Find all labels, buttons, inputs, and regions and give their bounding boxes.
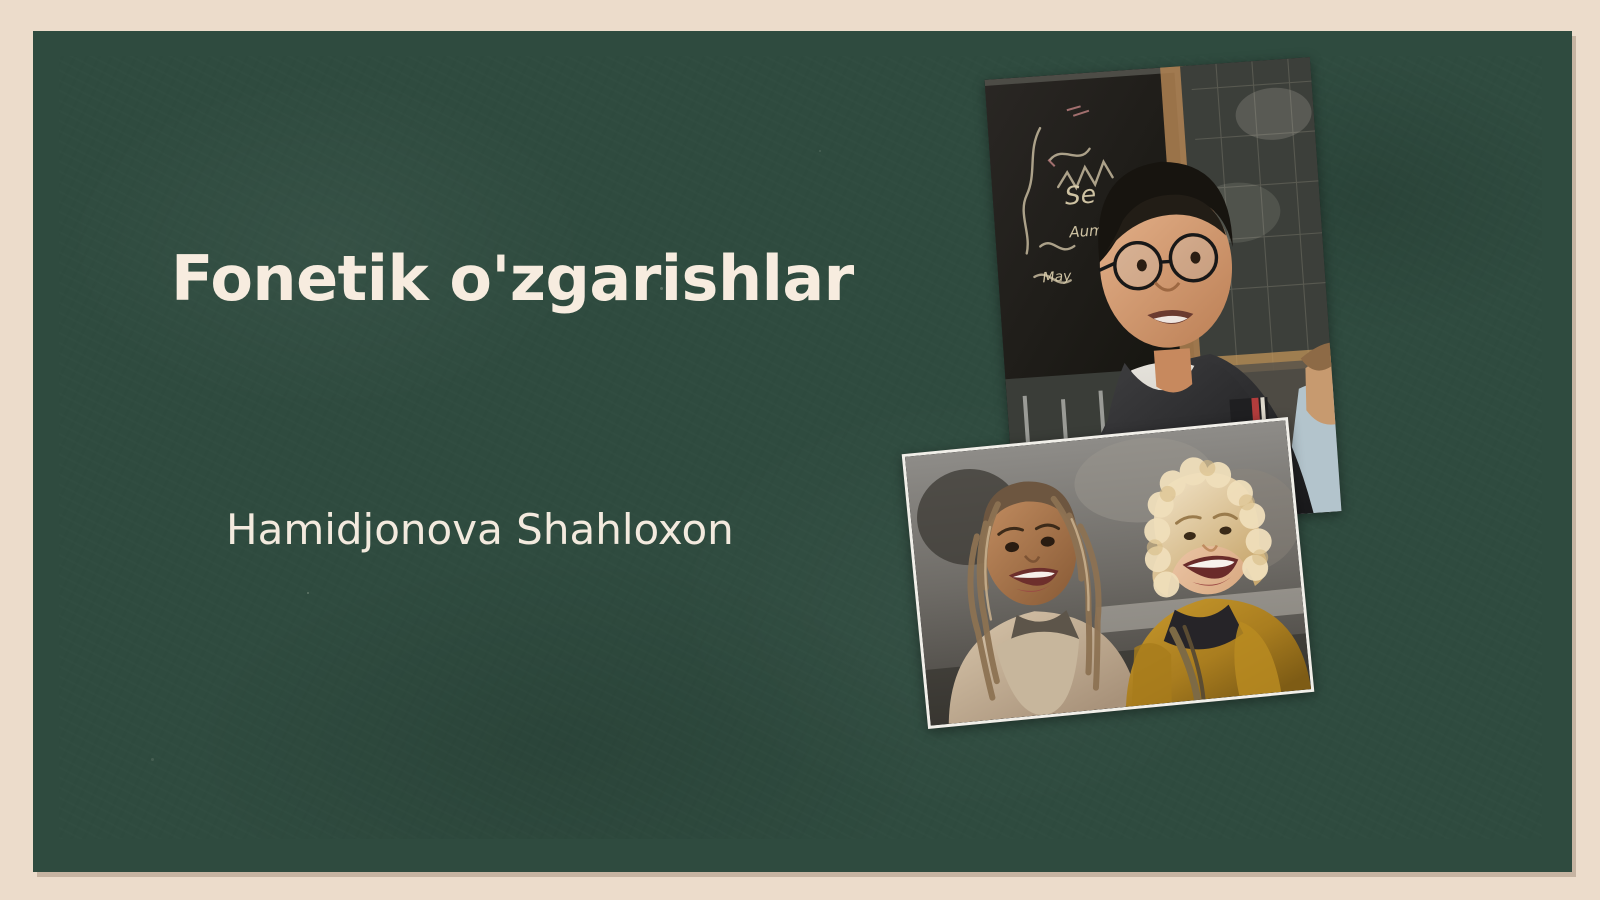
title-block: Fonetik o'zgarishlar xyxy=(171,245,931,313)
chalk-speck xyxy=(819,150,821,152)
students-photo-illustration xyxy=(905,420,1311,725)
students-photo xyxy=(902,417,1315,729)
svg-text:May: May xyxy=(1042,268,1073,286)
chalk-speck xyxy=(307,592,309,594)
page-title: Fonetik o'zgarishlar xyxy=(171,245,931,313)
chalk-speck xyxy=(151,758,154,761)
svg-text:Se: Se xyxy=(1064,179,1097,210)
presenter-name: Hamidjonova Shahloxon xyxy=(226,505,734,555)
slide-stage: Fonetik o'zgarishlar Hamidjonova Shahlox… xyxy=(0,0,1600,900)
